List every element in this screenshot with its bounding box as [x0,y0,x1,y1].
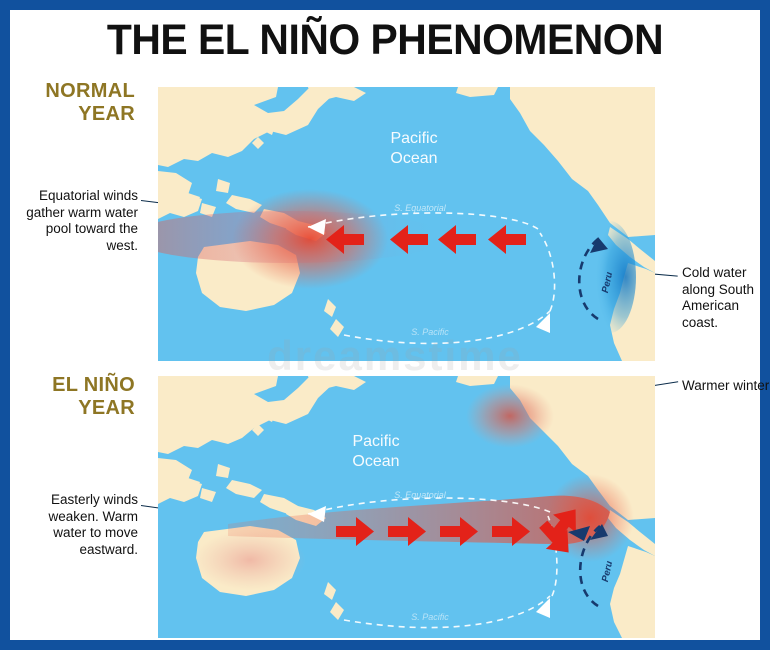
section-label-elnino-year: EL NIÑO YEAR [15,374,135,420]
australia-warm-anomaly [194,530,306,590]
ocean-label-line2: Ocean [390,150,437,167]
warm-pool-anomaly [232,189,388,289]
infographic-root: THE EL NIÑO PHENOMENON NORMAL YEAR Equat… [0,0,770,650]
callout-normal-winds: Equatorial winds gather warm water pool … [16,188,138,254]
map-panel-elnino-year: Peru Pacific Ocean S. Equatorial S. Paci… [158,376,655,638]
section-label-line1: EL NIÑO [15,374,135,397]
current-label-s-equatorial: S. Equatorial [394,203,447,213]
page-title: THE EL NIÑO PHENOMENON [29,16,742,65]
warmer-winter-anomaly [466,384,554,448]
map-normal-year: Peru Pacific Ocean S. Equatorial S. Paci… [158,87,655,361]
callout-normal-cold-water: Cold water along South American coast. [682,265,770,331]
ocean-label-line2: Ocean [352,453,399,470]
map-panel-normal-year: Peru Pacific Ocean S. Equatorial S. Paci… [158,87,655,361]
callout-elnino-winds: Easterly winds weaken. Warm water to mov… [14,492,138,558]
section-label-line2: YEAR [15,103,135,126]
map-elnino-year: Peru Pacific Ocean S. Equatorial S. Paci… [158,376,655,638]
ocean-label-line1: Pacific [352,433,399,450]
current-label-s-pacific: S. Pacific [411,612,449,622]
section-label-line1: NORMAL [15,80,135,103]
ocean-label-line1: Pacific [390,130,437,147]
current-label-s-equatorial: S. Equatorial [394,490,447,500]
callout-elnino-warmer-winter: Warmer winter [682,378,770,395]
section-label-normal-year: NORMAL YEAR [15,80,135,126]
current-label-s-pacific: S. Pacific [411,327,449,337]
section-label-line2: YEAR [15,397,135,420]
